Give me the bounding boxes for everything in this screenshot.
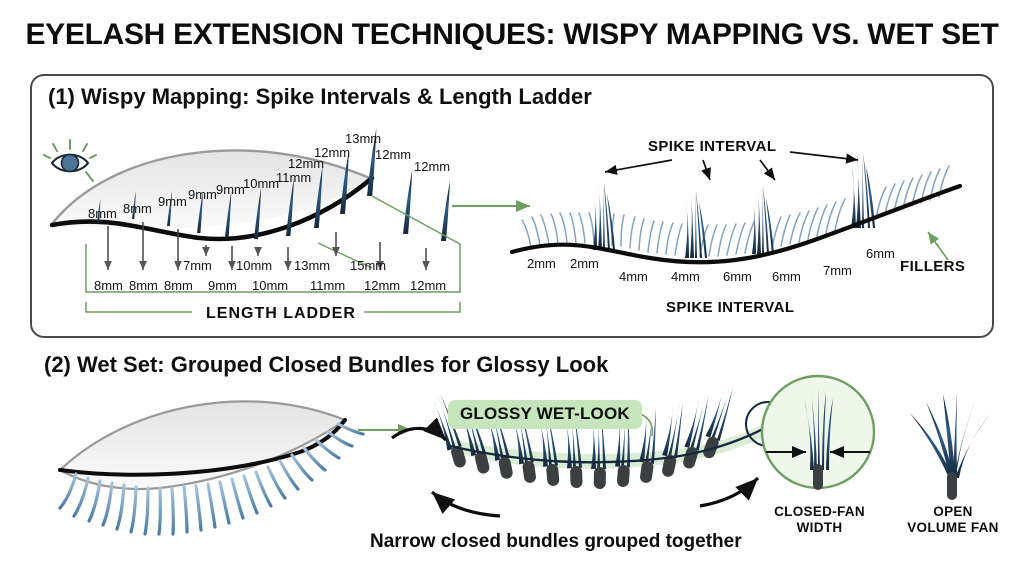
ladder-label: 8mm (164, 278, 193, 293)
map-label: 9mm (158, 194, 187, 209)
ladder-label-upper: 15mm (350, 258, 386, 273)
ladder-label: 12mm (410, 278, 446, 293)
curl-arrow-left (392, 428, 446, 440)
ladder-label-upper: 13mm (294, 258, 330, 273)
open-fan-caption-line2: VOLUME FAN (893, 520, 1013, 536)
map-label: 10mm (243, 176, 279, 191)
fillers-caption: FILLERS (900, 258, 965, 275)
section-2-heading: (2) Wet Set: Grouped Closed Bundles for … (44, 352, 608, 378)
spike-label: 4mm (619, 269, 648, 284)
ladder-label-upper: 7mm (183, 258, 212, 273)
spike-label: 6mm (723, 269, 752, 284)
open-fan-caption: OPEN VOLUME FAN (893, 504, 1013, 535)
map-label: 12mm (314, 145, 350, 160)
map-label: 13mm (345, 131, 381, 146)
closed-fan-graphic (804, 388, 833, 490)
spike-label: 2mm (570, 256, 599, 271)
spike-label: 7mm (823, 263, 852, 278)
map-label: 9mm (216, 182, 245, 197)
lower-lashes (60, 424, 363, 534)
map-label: 9mm (188, 187, 217, 202)
spike-interval-caption-bottom: SPIKE INTERVAL (666, 299, 794, 316)
length-ladder-caption: LENGTH LADDER (198, 305, 364, 323)
infographic-root: EYELASH EXTENSION TECHNIQUES: WISPY MAPP… (0, 0, 1024, 572)
map-label: 8mm (88, 206, 117, 221)
spike-label: 4mm (671, 269, 700, 284)
glossy-wet-look-badge: GLOSSY WET-LOOK (448, 400, 642, 429)
closed-fan-caption: CLOSED-FAN WIDTH (762, 504, 877, 535)
closed-eye-lid (60, 401, 345, 489)
ladder-label: 10mm (252, 278, 288, 293)
ladder-label: 12mm (364, 278, 400, 293)
bundles-caption: Narrow closed bundles grouped together (370, 531, 742, 553)
spread-arrows (432, 478, 758, 516)
ladder-label: 8mm (129, 278, 158, 293)
closed-fan-caption-line1: CLOSED-FAN (762, 504, 877, 520)
map-label: 11mm (276, 170, 311, 185)
closed-fan-caption-line2: WIDTH (762, 520, 877, 536)
map-label: 8mm (123, 201, 152, 216)
section-1-heading: (1) Wispy Mapping: Spike Intervals & Len… (48, 84, 592, 110)
ladder-label: 9mm (208, 278, 237, 293)
spike-interval-caption-top: SPIKE INTERVAL (648, 138, 776, 155)
spike-label: 6mm (772, 269, 801, 284)
map-label: 12mm (375, 147, 411, 162)
ladder-label: 8mm (94, 278, 123, 293)
zoom-cone (768, 396, 848, 470)
ladder-label: 11mm (310, 278, 345, 293)
open-fan-graphic (909, 392, 993, 500)
page-title: EYELASH EXTENSION TECHNIQUES: WISPY MAPP… (0, 18, 1024, 52)
spike-label: 6mm (866, 246, 895, 261)
open-fan-caption-line1: OPEN (893, 504, 1013, 520)
map-label: 12mm (414, 159, 450, 174)
ladder-label-upper: 10mm (236, 258, 272, 273)
spike-label: 2mm (527, 256, 556, 271)
magnifier-circle (762, 376, 874, 488)
